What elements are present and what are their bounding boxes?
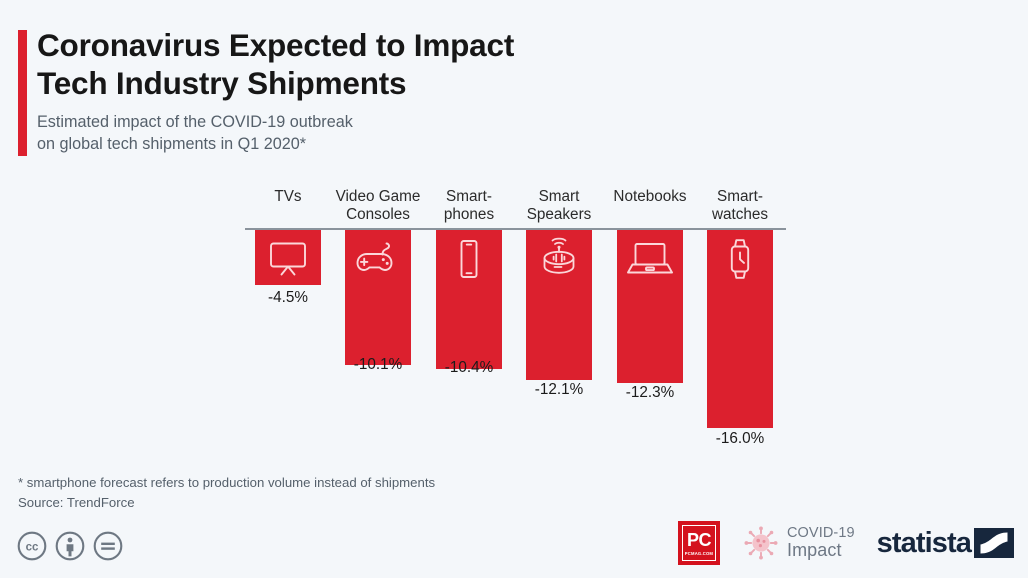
category-label-smart-speakers: Smart Speakers [513,188,605,224]
category-label-notebooks: Notebooks [600,188,700,206]
value-label-video-game-consoles: -10.1% [338,356,418,374]
laptop-icon [617,234,683,284]
smartwatch-icon [707,234,773,284]
creative-commons-badges: cc [17,531,123,561]
covid-line-1: COVID-19 [787,526,855,541]
covid-impact-logo: COVID-19 Impact [742,524,855,562]
pcmag-logo-frame: PC PCMAG.COM [682,525,716,561]
cat-smartphones-line1: Smart- [424,188,514,206]
category-label-video-game-consoles: Video Game Consoles [331,188,425,224]
covid-impact-text: COVID-19 Impact [787,526,855,560]
statista-mark-icon [974,528,1014,558]
creative-commons-icon[interactable]: cc [17,531,47,561]
value-label-smart-speakers: -12.1% [519,381,599,399]
source-text: Source: TrendForce [18,493,435,513]
covid-line-2: Impact [787,541,855,560]
value-label-notebooks: -12.3% [610,384,690,402]
cat-consoles-line2: Consoles [331,206,425,224]
statista-logo: statista [877,527,1014,560]
logo-row: PC PCMAG.COM [678,521,1014,565]
cat-speakers-line1: Smart [513,188,605,206]
pcmag-abbr: PC [687,531,711,549]
gamepad-icon [345,234,411,286]
category-label-smartphones: Smart- phones [424,188,514,224]
cat-watches-line2: watches [694,206,786,224]
category-label-tvs: TVs [243,188,333,206]
cat-watches-line1: Smart- [694,188,786,206]
statista-wordmark: statista [877,527,971,560]
footnote-block: * smartphone forecast refers to producti… [18,473,435,514]
cat-smartphones-line2: phones [424,206,514,224]
infographic-canvas: Coronavirus Expected to Impact Tech Indu… [0,0,1028,578]
virus-icon [742,524,780,562]
smartphone-icon [436,234,502,284]
value-label-tvs: -4.5% [248,289,328,307]
value-label-smartwatches: -16.0% [700,430,780,448]
tv-icon [255,234,321,284]
smart-speaker-icon [526,230,592,286]
attribution-icon[interactable] [55,531,85,561]
cat-speakers-line2: Speakers [513,206,605,224]
footnote-text: * smartphone forecast refers to producti… [18,473,435,493]
no-derivatives-icon[interactable] [93,531,123,561]
cat-consoles-line1: Video Game [331,188,425,206]
category-label-smartwatches: Smart- watches [694,188,786,224]
cat-notebooks-line2: Notebooks [600,188,700,206]
value-label-smartphones: -10.4% [429,359,509,377]
cat-tvs-line2: TVs [243,188,333,206]
pcmag-url: PCMAG.COM [685,551,713,556]
svg-text:cc: cc [26,541,39,553]
chart-baseline-axis [245,228,786,230]
pcmag-logo: PC PCMAG.COM [678,521,720,565]
